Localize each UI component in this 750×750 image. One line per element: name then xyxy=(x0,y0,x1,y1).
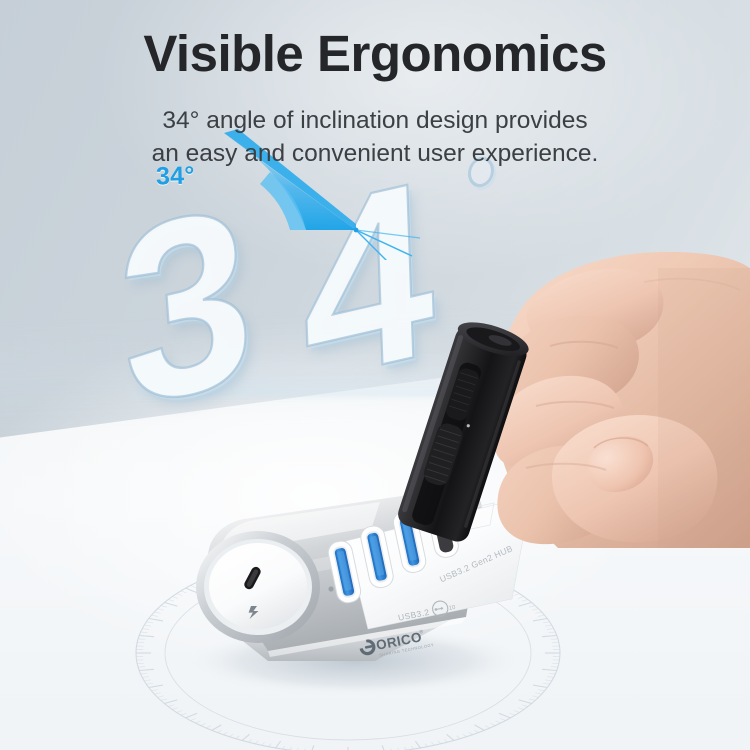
usb-c-port-disc xyxy=(196,531,320,643)
usb-flash-drive xyxy=(398,318,538,548)
page-subtitle: 34° angle of inclination design provides… xyxy=(0,104,750,170)
led-indicator xyxy=(328,586,333,591)
page-subtitle-line-2: an easy and convenient user experience. xyxy=(0,137,750,170)
page-subtitle-line-1: 34° angle of inclination design provides xyxy=(162,107,587,134)
page-title: Visible Ergonomics xyxy=(0,24,750,83)
product-marketing-image: 3 4 xyxy=(0,0,750,750)
angle-value-label: 34° xyxy=(156,161,195,191)
